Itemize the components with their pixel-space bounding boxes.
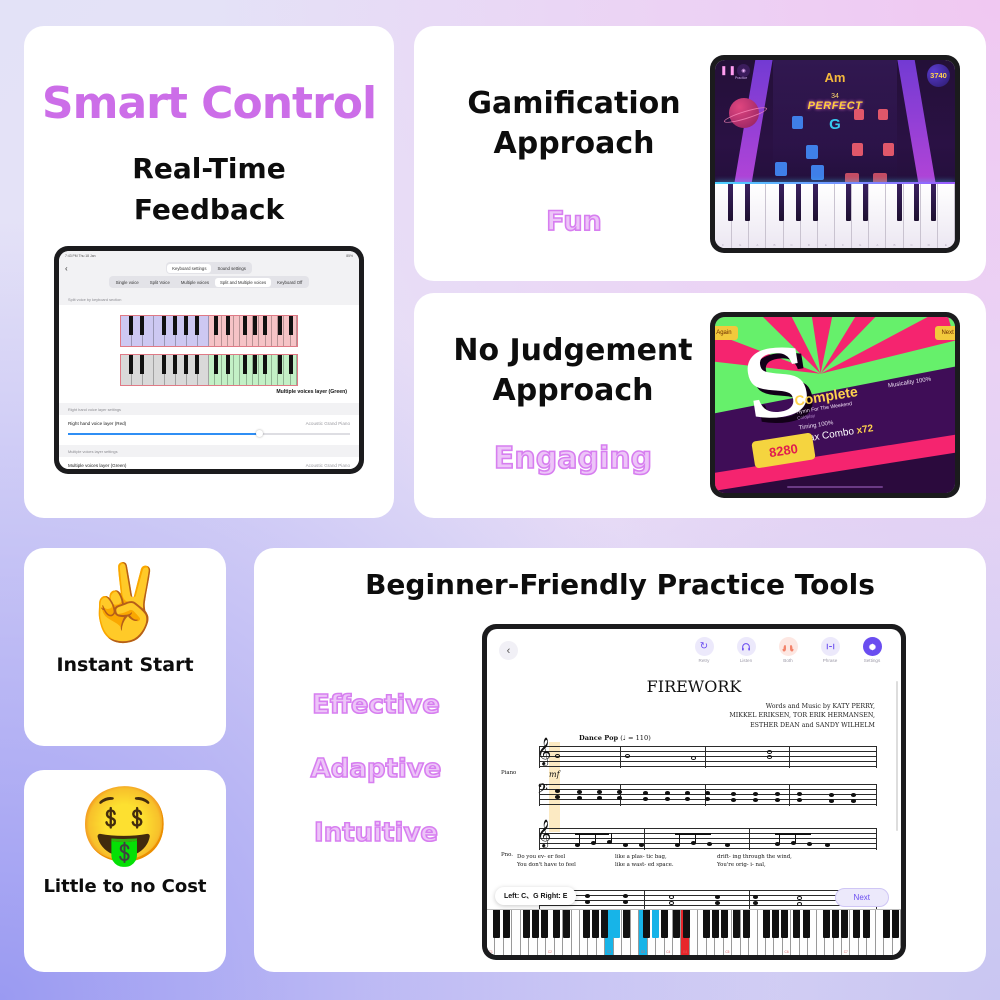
treble-clef-icon: 𝄞: [537, 739, 551, 763]
tool-both[interactable]: Both: [773, 637, 803, 663]
keyboard-diagram[interactable]: Multiple voices layer (Green): [59, 305, 359, 403]
group-label-multiple-voices: Multiple voices layer settings: [59, 445, 359, 457]
keyboard-settings-screen: 7:43 PM Thu 18 Jan 85% ‹ Keyboard settin…: [59, 251, 359, 469]
tempo-mark: (♩ = 110): [620, 734, 651, 742]
gameplay-piano-keyboard[interactable]: FGA BCD EFG ABC DE: [715, 184, 955, 248]
sheet-system-1: Piano 𝄞 mf: [487, 746, 901, 806]
vertical-scrollbar[interactable]: [896, 681, 898, 831]
group-label-right-hand: Right hand voice layer settings: [59, 403, 359, 415]
treble-staff-1: 𝄞: [539, 746, 877, 768]
keyboard-upper-right-zone: [209, 316, 297, 346]
again-button[interactable]: Again: [715, 326, 738, 340]
segment-keyboard-settings[interactable]: Keyboard settings: [167, 264, 211, 273]
keyboard-caption: Multiple voices layer (Green): [59, 386, 359, 395]
treble-clef-icon-2: 𝄞: [537, 821, 551, 845]
status-bar: 7:43 PM Thu 18 Jan 85%: [59, 251, 359, 260]
falling-note: [852, 143, 863, 156]
falling-note: [878, 109, 888, 120]
chord-display: Am: [715, 70, 955, 85]
tab-keyboard-off[interactable]: Keyboard Off: [272, 278, 307, 287]
no-judgement-title-line2: Approach: [442, 371, 704, 411]
note-letter: G: [715, 116, 955, 133]
card-instant-start: ✌️ Instant Start: [24, 548, 226, 746]
instrument-label: Piano: [501, 770, 516, 776]
lyrics-line-1b: like a plas- tic bag,: [615, 854, 667, 860]
setting-value-right-hand[interactable]: Acoustic Grand Piano: [306, 421, 350, 426]
practice-tool-buttons[interactable]: ↻ Retry Listen: [689, 637, 887, 663]
card-smart-control: Smart Control Real-Time Feedback 7:43 PM…: [24, 26, 394, 518]
tool-listen[interactable]: Listen: [731, 637, 761, 663]
lyrics-line-1: Do you ev- er feel: [517, 854, 565, 860]
keyboard-upper[interactable]: [120, 315, 298, 347]
setting-row-multiple-voices[interactable]: Multiple voices layer (Green) Acoustic G…: [59, 457, 359, 469]
tool-phrase[interactable]: Phrase: [815, 637, 845, 663]
falling-note: [806, 145, 818, 159]
sheet-music-screen: ‹ ↻ Retry Listen: [487, 629, 901, 955]
practice-tag-intuitive: Intuitive: [276, 818, 476, 848]
credits-line-1: Words and Music by KATY PERRY,: [487, 702, 875, 711]
lyrics-line-2: You don't have to feel: [517, 862, 576, 868]
practice-title: Beginner-Friendly Practice Tools: [254, 568, 986, 601]
tablet-gameplay: ❚❚ ◉ Practice 3740 Am 34 PERFECT G: [710, 55, 960, 253]
voice-mode-seg[interactable]: Single voice Split Voice Multiple voices…: [109, 276, 309, 288]
sheet-piano-keyboard[interactable]: C1 C2 C3 G3 C4E4 C5 C6 C7: [487, 909, 901, 955]
sheet-credits: Words and Music by KATY PERRY, MIKKEL ER…: [487, 702, 901, 730]
voice-mode-tabs[interactable]: Single voice Split Voice Multiple voices…: [59, 276, 359, 293]
setting-name-right-hand: Right hand voice layer (Red): [68, 421, 126, 426]
falling-note: [775, 162, 787, 176]
instrument-label-2: Pno.: [501, 852, 513, 858]
retry-icon[interactable]: ↻: [695, 637, 714, 656]
tool-label-phrase: Phrase: [815, 658, 845, 663]
tool-retry[interactable]: ↻ Retry: [689, 637, 719, 663]
tablet-keyboard-settings: 7:43 PM Thu 18 Jan 85% ‹ Keyboard settin…: [54, 246, 364, 474]
bass-staff-1: 𝄢: [539, 784, 877, 806]
instant-start-label: Instant Start: [24, 654, 226, 676]
lyrics-line-1c: drift- ing through the wind,: [717, 854, 792, 860]
settings-nav-row: ‹ Keyboard settings Sound settings: [59, 260, 359, 276]
tab-multiple-voices[interactable]: Multiple voices: [176, 278, 214, 287]
poster-root: Smart Control Real-Time Feedback 7:43 PM…: [0, 0, 1000, 1000]
falling-note: [883, 143, 894, 156]
dynamic-marking: mf: [549, 770, 560, 779]
gamification-title-line1: Gamification: [444, 84, 704, 124]
tool-settings[interactable]: Settings: [857, 637, 887, 663]
back-chevron-icon[interactable]: ‹: [499, 641, 518, 660]
smart-control-subtitle-line2: Feedback: [24, 190, 394, 231]
phrase-icon[interactable]: [821, 637, 840, 656]
lyrics-line-2b: like a wast- ed space.: [615, 862, 674, 868]
status-time: 7:43 PM Thu 18 Jan: [65, 254, 95, 258]
tab-split-voice[interactable]: Split Voice: [145, 278, 175, 287]
judgement-text: PERFECT: [715, 100, 955, 112]
tab-single-voice[interactable]: Single voice: [111, 278, 144, 287]
tempo-style: Dance Pop: [579, 734, 618, 742]
lyrics-line-2c: You're orig- i- nal,: [717, 862, 766, 868]
keyboard-upper-left-zone: [121, 316, 209, 346]
card-no-judgement: No Judgement Approach Engaging: [414, 293, 986, 518]
setting-name-multiple-voices: Multiple voices layer (Green): [68, 463, 126, 468]
bass-clef-icon: 𝄢: [537, 783, 548, 800]
home-indicator: [787, 486, 883, 488]
next-phrase-button[interactable]: Next: [835, 888, 889, 907]
falling-note: [792, 116, 803, 129]
practice-tag-list: Effective Adaptive Intuitive: [276, 690, 476, 882]
card-practice-tools: Beginner-Friendly Practice Tools Effecti…: [254, 548, 986, 972]
gamification-title-line2: Approach: [444, 124, 704, 164]
gamification-title: Gamification Approach: [444, 84, 704, 164]
little-cost-label: Little to no Cost: [24, 876, 226, 897]
smart-control-subtitle: Real-Time Feedback: [24, 149, 394, 230]
gamification-tag: Fun: [444, 206, 704, 237]
headphones-icon[interactable]: [737, 637, 756, 656]
back-chevron-icon[interactable]: ‹: [65, 264, 68, 273]
gear-icon[interactable]: [863, 637, 882, 656]
no-judgement-tag: Engaging: [442, 441, 704, 476]
volume-slider-right-hand[interactable]: [68, 430, 350, 437]
next-button[interactable]: Next: [935, 326, 955, 340]
status-battery: 85%: [346, 254, 353, 258]
gameplay-screen: ❚❚ ◉ Practice 3740 Am 34 PERFECT G: [715, 60, 955, 248]
victory-hand-emoji: ✌️: [24, 566, 226, 640]
setting-row-right-hand[interactable]: Right hand voice layer (Red) Acoustic Gr…: [59, 415, 359, 445]
tablet-result-screen: S Complete Hymn For The Weekend Coldplay…: [710, 312, 960, 498]
falling-note: [854, 109, 864, 120]
tool-label-listen: Listen: [731, 658, 761, 663]
note-hint-tooltip: Left: C、G Right: E: [495, 887, 576, 905]
keyboard-lower[interactable]: [120, 354, 298, 386]
hand-with-coins-emoji: 🤑: [24, 788, 226, 862]
segment-sound-settings[interactable]: Sound settings: [212, 264, 250, 273]
combo-counter: 34: [715, 93, 955, 100]
no-judgement-title-line1: No Judgement: [442, 331, 704, 371]
tool-label-retry: Retry: [689, 658, 719, 663]
practice-tag-adaptive: Adaptive: [276, 754, 476, 784]
tool-label-settings: Settings: [857, 658, 887, 663]
credits-line-3: ESTHER DEAN and SANDY WILHELM: [487, 721, 875, 730]
no-judgement-title: No Judgement Approach: [442, 331, 704, 411]
settings-segmented-control[interactable]: Keyboard settings Sound settings: [166, 262, 253, 274]
tab-split-and-multiple-voices[interactable]: Split and Multiple voices: [215, 278, 271, 287]
both-hands-icon[interactable]: [779, 637, 798, 656]
falling-note: [811, 165, 824, 180]
section-label-split-voice: Split voice by keyboard section: [59, 293, 359, 305]
keyboard-lower-left-zone: [121, 355, 209, 385]
treble-staff-2: 𝄞: [539, 828, 877, 850]
tablet-sheet-music: ‹ ↻ Retry Listen: [482, 624, 906, 960]
card-gamification: Gamification Approach Fun ❚❚ ◉ Practice …: [414, 26, 986, 281]
credits-line-2: MIKKEL ERIKSEN, TOR ERIK HERMANSEN,: [487, 711, 875, 720]
smart-control-subtitle-line1: Real-Time: [24, 149, 394, 190]
keyboard-lower-right-zone: [209, 355, 297, 385]
card-little-to-no-cost: 🤑 Little to no Cost: [24, 770, 226, 972]
smart-control-title: Smart Control: [24, 78, 394, 129]
sheet-song-title: FIREWORK: [487, 677, 901, 696]
setting-value-multiple-voices[interactable]: Acoustic Grand Piano: [306, 463, 350, 468]
practice-tag-effective: Effective: [276, 690, 476, 720]
result-screen: S Complete Hymn For The Weekend Coldplay…: [715, 317, 955, 493]
tool-label-both: Both: [773, 658, 803, 663]
sheet-toolbar: ‹ ↻ Retry Listen: [487, 629, 901, 675]
